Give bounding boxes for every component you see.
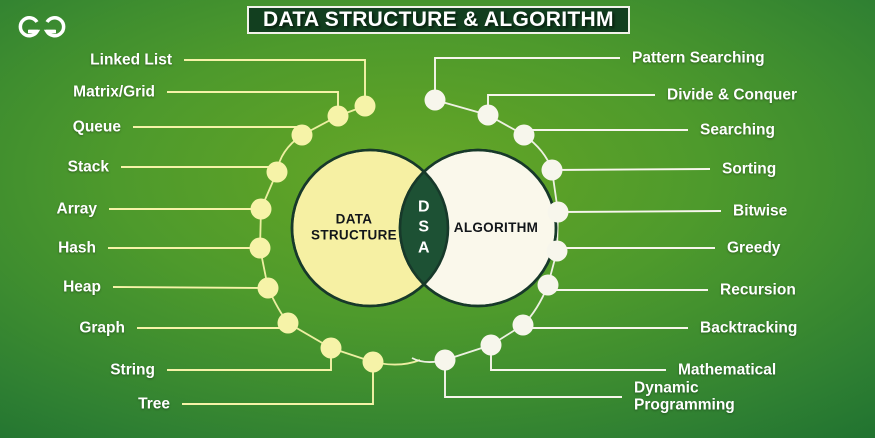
node-dot-stack[interactable] (267, 162, 288, 183)
branch-label-line-0: Dynamic (634, 380, 735, 397)
connector-line-divide-conquer (488, 95, 655, 115)
venn-label-ds-line2: STRUCTURE (299, 228, 409, 244)
branch-label-heap[interactable]: Heap (63, 278, 101, 295)
page-title-box: DATA STRUCTURE & ALGORITHM (247, 6, 630, 34)
branch-label-string[interactable]: String (110, 361, 155, 378)
node-dot-heap[interactable] (258, 278, 279, 299)
branch-label-stack[interactable]: Stack (68, 158, 109, 175)
connector-line-queue (133, 127, 302, 135)
connector-line-mathematical (491, 345, 666, 370)
venn-label-ds-line1: DATA (299, 212, 409, 228)
connector-line-sorting (552, 169, 710, 170)
node-dot-hash[interactable] (250, 238, 271, 259)
venn-label-dsa: D S A (411, 197, 437, 258)
branch-label-line-1: Programming (634, 397, 735, 414)
branch-label-searching[interactable]: Searching (700, 121, 775, 138)
branch-label-tree[interactable]: Tree (138, 395, 170, 412)
connector-line-recursion (548, 285, 708, 290)
connector-line-backtracking (523, 325, 688, 328)
connector-line-tree (182, 362, 373, 404)
connector-line-bitwise (558, 211, 721, 212)
connector-line-heap (113, 287, 268, 288)
branch-label-mathematical[interactable]: Mathematical (678, 361, 776, 378)
branch-label-matrix-grid[interactable]: Matrix/Grid (73, 83, 155, 100)
branch-label-sorting[interactable]: Sorting (722, 160, 776, 177)
connector-line-greedy (557, 248, 715, 251)
page-title: DATA STRUCTURE & ALGORITHM (263, 8, 614, 32)
branch-label-recursion[interactable]: Recursion (720, 281, 796, 298)
connector-line-stack (121, 167, 277, 172)
connector-line-pattern-searching (435, 58, 620, 100)
connector-line-graph (137, 323, 288, 328)
node-dot-divide-conquer[interactable] (478, 105, 499, 126)
node-dot-tree[interactable] (363, 352, 384, 373)
branch-label-greedy[interactable]: Greedy (727, 239, 780, 256)
branch-label-graph[interactable]: Graph (79, 319, 125, 336)
node-dot-linked-list[interactable] (355, 96, 376, 117)
branch-label-queue[interactable]: Queue (73, 118, 121, 135)
dsa-letter-a: A (411, 238, 437, 258)
branch-label-bitwise[interactable]: Bitwise (733, 202, 787, 219)
node-dot-sorting[interactable] (542, 160, 563, 181)
node-dot-matrix-grid[interactable] (328, 106, 349, 127)
branch-label-dynamic-programming[interactable]: DynamicProgramming (634, 380, 735, 415)
dsa-letter-s: S (411, 218, 437, 238)
node-dot-string[interactable] (321, 338, 342, 359)
node-dot-graph[interactable] (278, 313, 299, 334)
node-dot-queue[interactable] (292, 125, 313, 146)
node-dot-pattern-searching[interactable] (425, 90, 446, 111)
branch-label-array[interactable]: Array (57, 200, 98, 217)
connector-line-matrix-grid (167, 92, 338, 116)
node-dot-array[interactable] (251, 199, 272, 220)
branch-label-hash[interactable]: Hash (58, 239, 96, 256)
node-dot-greedy[interactable] (547, 241, 568, 262)
connector-line-dynamic-programming (445, 360, 622, 397)
connector-line-searching (524, 130, 688, 135)
branch-label-pattern-searching[interactable]: Pattern Searching (632, 49, 765, 66)
infographic-canvas: DATA STRUCTURE & ALGORITHM DATA STRUCTUR… (0, 0, 875, 438)
node-dot-mathematical[interactable] (481, 335, 502, 356)
node-dot-searching[interactable] (514, 125, 535, 146)
venn-label-algorithm: ALGORITHM (441, 220, 551, 236)
dsa-letter-d: D (411, 197, 437, 217)
venn-label-data-structure: DATA STRUCTURE (299, 212, 409, 245)
node-dot-backtracking[interactable] (513, 315, 534, 336)
branch-label-backtracking[interactable]: Backtracking (700, 319, 797, 336)
branch-label-linked-list[interactable]: Linked List (90, 51, 172, 68)
node-dot-recursion[interactable] (538, 275, 559, 296)
node-dot-dynamic-programming[interactable] (435, 350, 456, 371)
branch-label-divide-conquer[interactable]: Divide & Conquer (667, 86, 797, 103)
connector-line-string (167, 348, 331, 370)
